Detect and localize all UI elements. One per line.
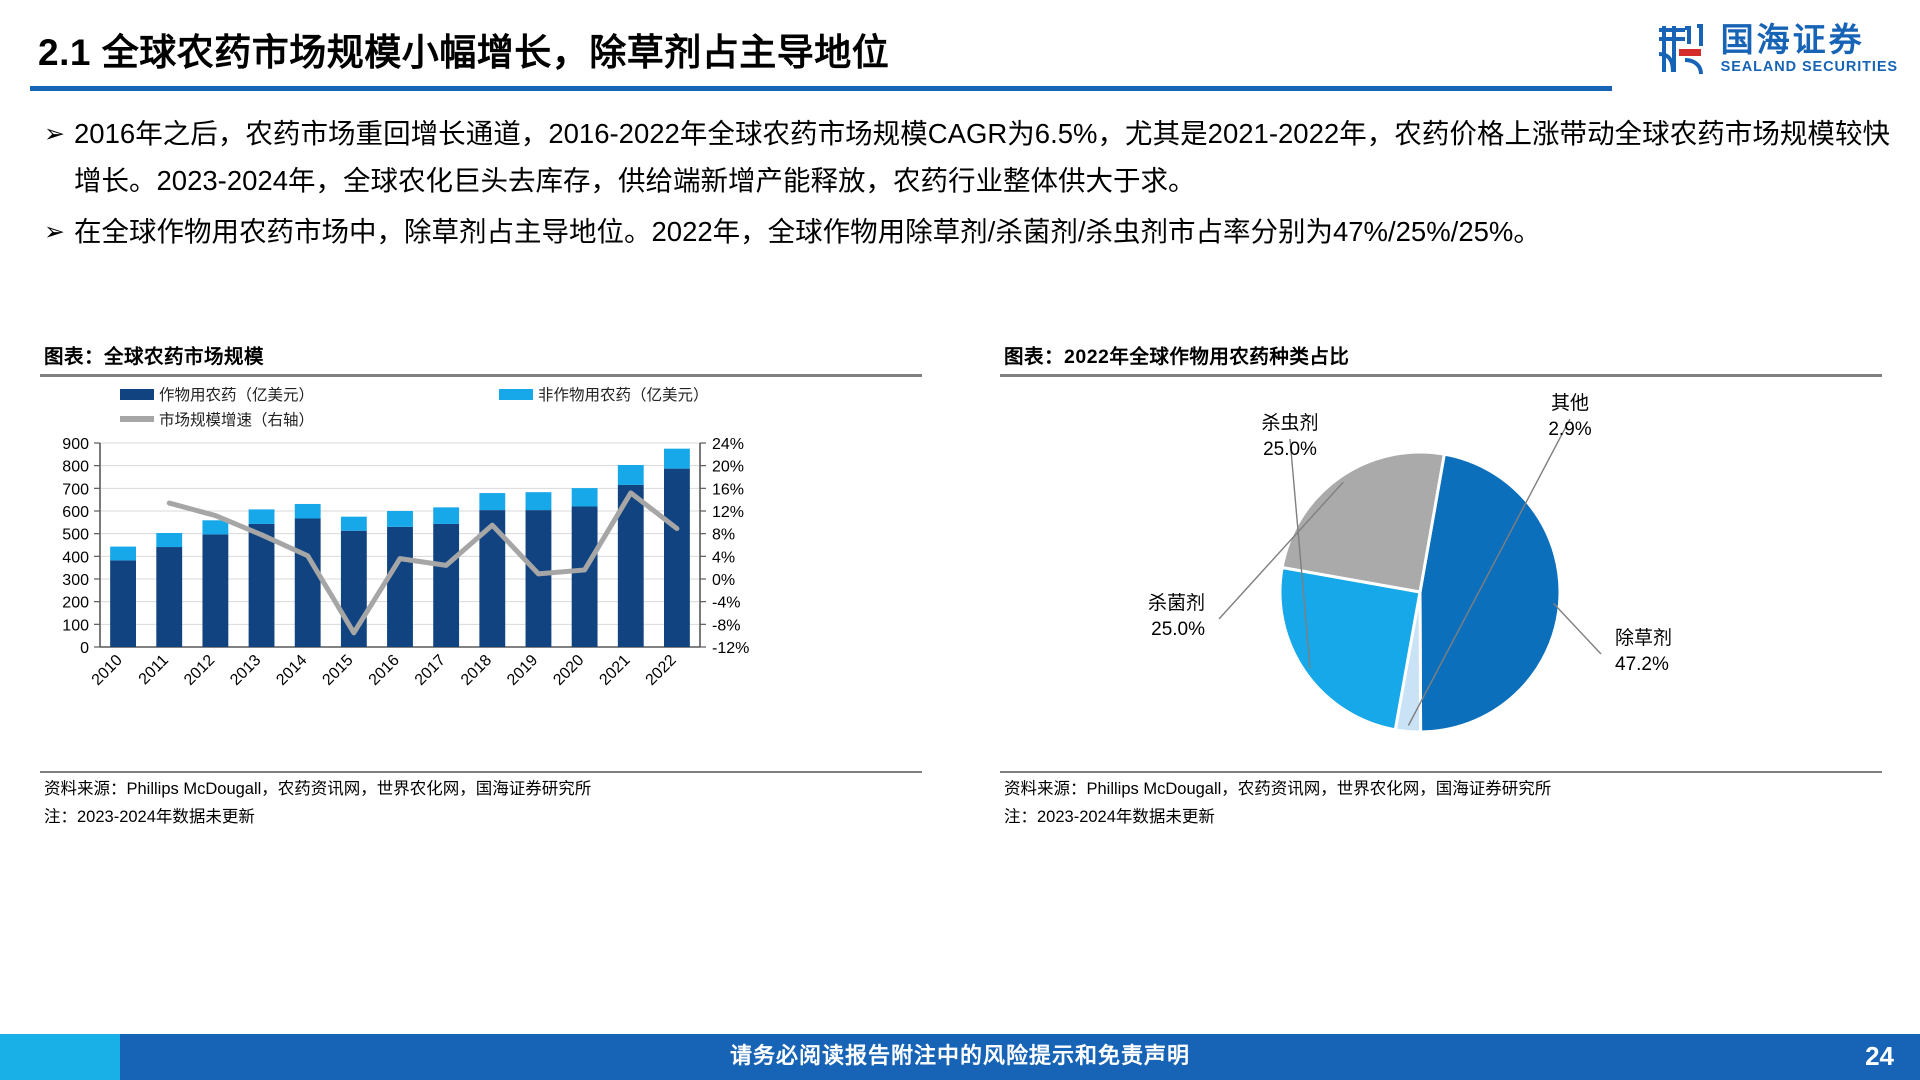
sealand-logo-icon: [1655, 20, 1711, 78]
bar-chart-svg: 0100200300400500600700800900-12%-8%-4%0%…: [40, 377, 922, 767]
header-divider: [30, 86, 1612, 91]
svg-text:2013: 2013: [227, 652, 264, 689]
bullet-arrow-icon: ➢: [40, 110, 74, 204]
page-number: 24: [1865, 1041, 1894, 1072]
svg-text:2020: 2020: [550, 652, 587, 689]
right-chart-caption: 图表：2022年全球作物用农药种类占比: [1000, 340, 1882, 369]
svg-text:100: 100: [62, 617, 89, 634]
legend-label-growth: 市场规模增速（右轴）: [159, 408, 314, 430]
svg-text:-12%: -12%: [712, 640, 749, 657]
bullet-list: ➢ 2016年之后，农药市场重回增长通道，2016-2022年全球农药市场规模C…: [40, 110, 1890, 260]
svg-text:2016: 2016: [366, 652, 403, 689]
svg-text:除草剂: 除草剂: [1615, 627, 1672, 649]
svg-text:20%: 20%: [712, 459, 744, 476]
footer-accent: [0, 1034, 120, 1080]
svg-text:47.2%: 47.2%: [1615, 654, 1669, 675]
svg-text:2018: 2018: [458, 652, 495, 689]
logo-text-cn: 国海证券: [1721, 23, 1898, 56]
svg-text:2015: 2015: [319, 652, 356, 689]
bar-chart-legend: 作物用农药（亿美元） 非作物用农药（亿美元） 市场规模增速（右轴）: [120, 383, 780, 433]
legend-item-noncrop: 非作物用农药（亿美元）: [499, 383, 709, 405]
svg-text:0: 0: [80, 640, 89, 657]
svg-text:400: 400: [62, 549, 89, 566]
svg-text:2014: 2014: [273, 652, 310, 689]
svg-text:24%: 24%: [712, 436, 744, 453]
logo-text-en: SEALAND SECURITIES: [1721, 60, 1898, 75]
legend-swatch-noncrop: [499, 389, 533, 400]
svg-text:-4%: -4%: [712, 595, 740, 612]
svg-text:其他: 其他: [1551, 392, 1589, 414]
svg-text:2011: 2011: [136, 652, 172, 688]
right-chart-source-1: 资料来源：Phillips McDougall，农药资讯网，世界农化网，国海证券…: [1000, 773, 1882, 801]
svg-text:-8%: -8%: [712, 617, 740, 634]
legend-item-crop: 作物用农药（亿美元）: [120, 383, 314, 405]
svg-text:25.0%: 25.0%: [1263, 439, 1317, 460]
svg-text:杀菌剂: 杀菌剂: [1148, 592, 1205, 614]
legend-swatch-crop: [120, 389, 154, 400]
svg-text:500: 500: [62, 527, 89, 544]
right-chart-body: 除草剂47.2%其他2.9%杀虫剂25.0%杀菌剂25.0%: [1000, 377, 1882, 767]
svg-text:杀虫剂: 杀虫剂: [1261, 412, 1318, 434]
left-chart-body: 作物用农药（亿美元） 非作物用农药（亿美元） 市场规模增速（右轴） 010020…: [40, 377, 922, 767]
left-chart-block: 图表：全球农药市场规模 作物用农药（亿美元） 非作物用农药（亿美元） 市场规模增…: [40, 340, 922, 829]
svg-text:2019: 2019: [504, 652, 541, 689]
svg-text:2.9%: 2.9%: [1548, 419, 1591, 440]
svg-text:2017: 2017: [412, 652, 449, 689]
svg-text:2022: 2022: [643, 652, 680, 689]
bullet-arrow-icon: ➢: [40, 208, 74, 256]
svg-text:2012: 2012: [181, 652, 218, 689]
svg-text:2021: 2021: [596, 652, 633, 689]
svg-text:8%: 8%: [712, 527, 735, 544]
svg-text:300: 300: [62, 572, 89, 589]
svg-text:900: 900: [62, 436, 89, 453]
left-chart-source-1: 资料来源：Phillips McDougall，农药资讯网，世界农化网，国海证券…: [40, 773, 922, 801]
svg-text:800: 800: [62, 459, 89, 476]
right-chart-source-2: 注：2023-2024年数据未更新: [1000, 801, 1882, 829]
pie-chart-svg: 除草剂47.2%其他2.9%杀虫剂25.0%杀菌剂25.0%: [1000, 377, 1882, 767]
list-item: ➢ 2016年之后，农药市场重回增长通道，2016-2022年全球农药市场规模C…: [40, 110, 1890, 204]
legend-label-noncrop: 非作物用农药（亿美元）: [538, 383, 709, 405]
right-chart-block: 图表：2022年全球作物用农药种类占比 除草剂47.2%其他2.9%杀虫剂25.…: [1000, 340, 1882, 829]
svg-text:4%: 4%: [712, 549, 735, 566]
footer-disclaimer: 请务必阅读报告附注中的风险提示和免责声明: [730, 1038, 1190, 1070]
legend-item-growth: 市场规模增速（右轴）: [120, 408, 314, 430]
svg-text:12%: 12%: [712, 504, 744, 521]
svg-text:600: 600: [62, 504, 89, 521]
legend-label-crop: 作物用农药（亿美元）: [159, 383, 314, 405]
left-chart-caption: 图表：全球农药市场规模: [40, 340, 922, 369]
bullet-text: 在全球作物用农药市场中，除草剂占主导地位。2022年，全球作物用除草剂/杀菌剂/…: [74, 208, 1541, 256]
svg-text:2010: 2010: [89, 652, 126, 689]
company-logo: 国海证券 SEALAND SECURITIES: [1655, 20, 1898, 78]
svg-text:700: 700: [62, 481, 89, 498]
svg-text:0%: 0%: [712, 572, 735, 589]
svg-text:200: 200: [62, 595, 89, 612]
left-chart-source-2: 注：2023-2024年数据未更新: [40, 801, 922, 829]
svg-text:16%: 16%: [712, 481, 744, 498]
footer-bar: 请务必阅读报告附注中的风险提示和免责声明 24: [0, 1034, 1920, 1080]
legend-swatch-growth: [120, 416, 154, 422]
svg-text:25.0%: 25.0%: [1151, 619, 1205, 640]
bullet-text: 2016年之后，农药市场重回增长通道，2016-2022年全球农药市场规模CAG…: [74, 110, 1890, 204]
page-title: 2.1 全球农药市场规模小幅增长，除草剂占主导地位: [38, 22, 889, 76]
list-item: ➢ 在全球作物用农药市场中，除草剂占主导地位。2022年，全球作物用除草剂/杀菌…: [40, 208, 1890, 256]
